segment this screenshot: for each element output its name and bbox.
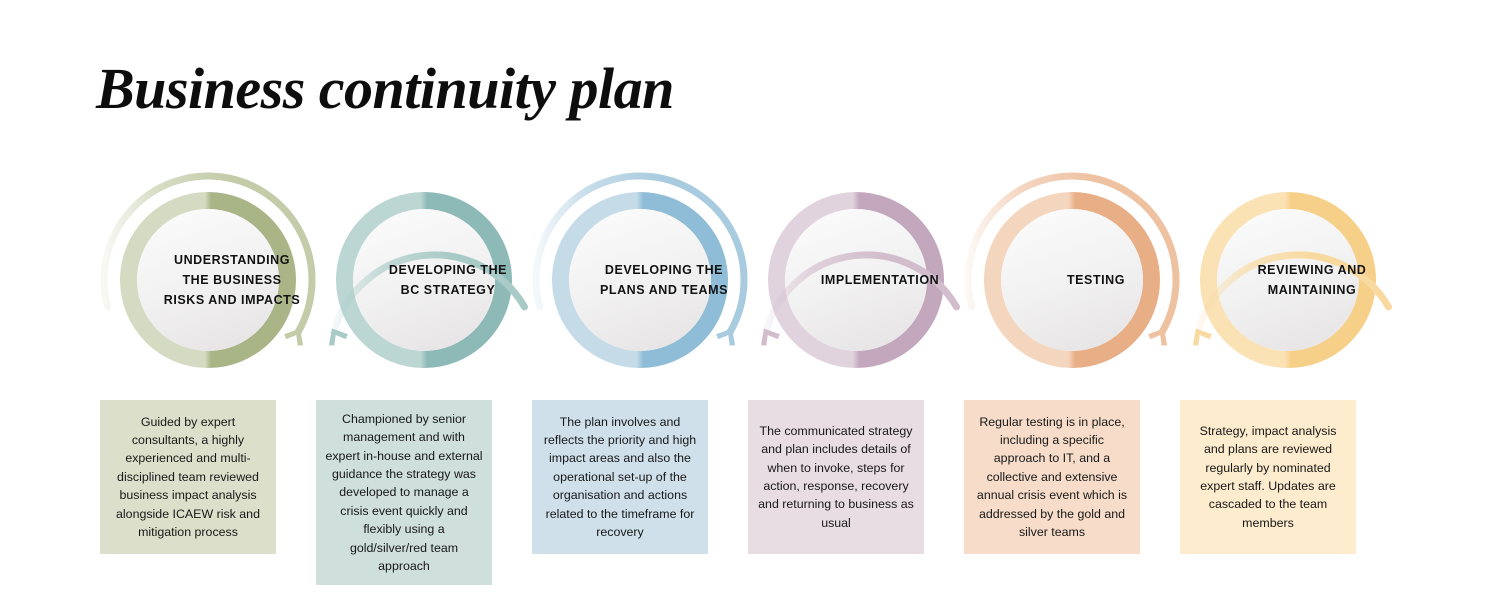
step-description-card: Guided by expert consultants, a highly e…: [100, 400, 276, 554]
step-inner-disc: [785, 209, 927, 351]
step-inner-disc: [1217, 209, 1359, 351]
step-description-card: The plan involves and reflects the prior…: [532, 400, 708, 554]
step-description-text: Regular testing is in place, including a…: [973, 413, 1131, 542]
step-circle-graphic: [1156, 160, 1420, 400]
process-step: UNDERSTANDINGTHE BUSINESSRISKS AND IMPAC…: [100, 0, 316, 603]
step-description-text: The plan involves and reflects the prior…: [541, 413, 699, 542]
step-inner-disc: [1001, 209, 1143, 351]
step-description-card: Regular testing is in place, including a…: [964, 400, 1140, 554]
step-circle-reviewing-and-maintaining[interactable]: [1156, 160, 1420, 400]
step-description-card: The communicated strategy and plan inclu…: [748, 400, 924, 554]
process-step: IMPLEMENTATIONThe communicated strategy …: [748, 0, 964, 603]
process-step: DEVELOPING THEPLANS AND TEAMSThe plan in…: [532, 0, 748, 603]
step-inner-disc: [353, 209, 495, 351]
step-description-text: Guided by expert consultants, a highly e…: [109, 413, 267, 542]
process-flow-stage: UNDERSTANDINGTHE BUSINESSRISKS AND IMPAC…: [0, 0, 1500, 603]
step-description-card: Strategy, impact analysis and plans are …: [1180, 400, 1356, 554]
step-description-text: Strategy, impact analysis and plans are …: [1189, 422, 1347, 532]
process-step: REVIEWING ANDMAINTAININGStrategy, impact…: [1180, 0, 1396, 603]
process-step: DEVELOPING THEBC STRATEGYChampioned by s…: [316, 0, 532, 603]
process-step: TESTINGRegular testing is in place, incl…: [964, 0, 1180, 603]
step-description-text: The communicated strategy and plan inclu…: [757, 422, 915, 532]
step-inner-disc: [569, 209, 711, 351]
step-inner-disc: [137, 209, 279, 351]
step-description-text: Championed by senior management and with…: [325, 410, 483, 575]
step-description-card: Championed by senior management and with…: [316, 400, 492, 585]
infographic-canvas: Business continuity plan UNDERSTANDINGTH…: [0, 0, 1500, 603]
